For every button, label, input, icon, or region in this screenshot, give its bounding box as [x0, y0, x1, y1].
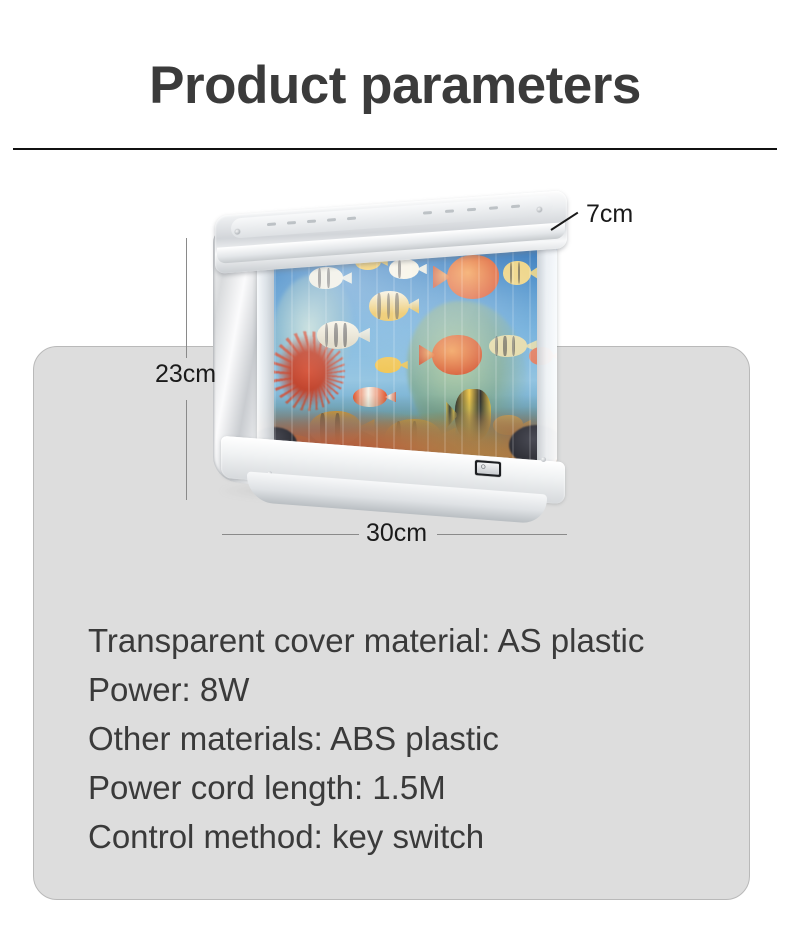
dimension-label-width: 30cm — [366, 521, 427, 546]
spec-list: Transparent cover material: AS plastic P… — [88, 616, 728, 861]
spec-item: Control method: key switch — [88, 812, 728, 861]
title-divider — [13, 148, 777, 150]
width-dimension-line-right — [437, 534, 567, 535]
rocker-toggle[interactable]: O — [477, 462, 499, 475]
screw-icon — [541, 457, 546, 462]
tank-rim-right — [537, 239, 557, 467]
width-dimension-line-left — [222, 534, 359, 535]
spec-item: Power cord length: 1.5M — [88, 763, 728, 812]
spec-item: Power: 8W — [88, 665, 728, 714]
dimension-label-height: 23cm — [155, 362, 216, 387]
spec-item: Transparent cover material: AS plastic — [88, 616, 728, 665]
height-dimension-line-bottom — [186, 400, 187, 500]
spec-item: Other materials: ABS plastic — [88, 714, 728, 763]
switch-mark: O — [481, 464, 487, 471]
page-title: Product parameters — [0, 58, 790, 114]
vent-slot — [511, 205, 520, 209]
acrylic-ribs — [257, 239, 557, 467]
product-image: O — [150, 180, 650, 550]
height-dimension-line-top — [186, 238, 187, 358]
aquarium-lamp-illustration: O — [205, 195, 575, 515]
dimension-label-depth: 7cm — [586, 202, 633, 227]
tank-rim-left — [257, 239, 274, 467]
power-switch[interactable]: O — [475, 460, 501, 477]
aquarium-tank — [257, 239, 557, 467]
